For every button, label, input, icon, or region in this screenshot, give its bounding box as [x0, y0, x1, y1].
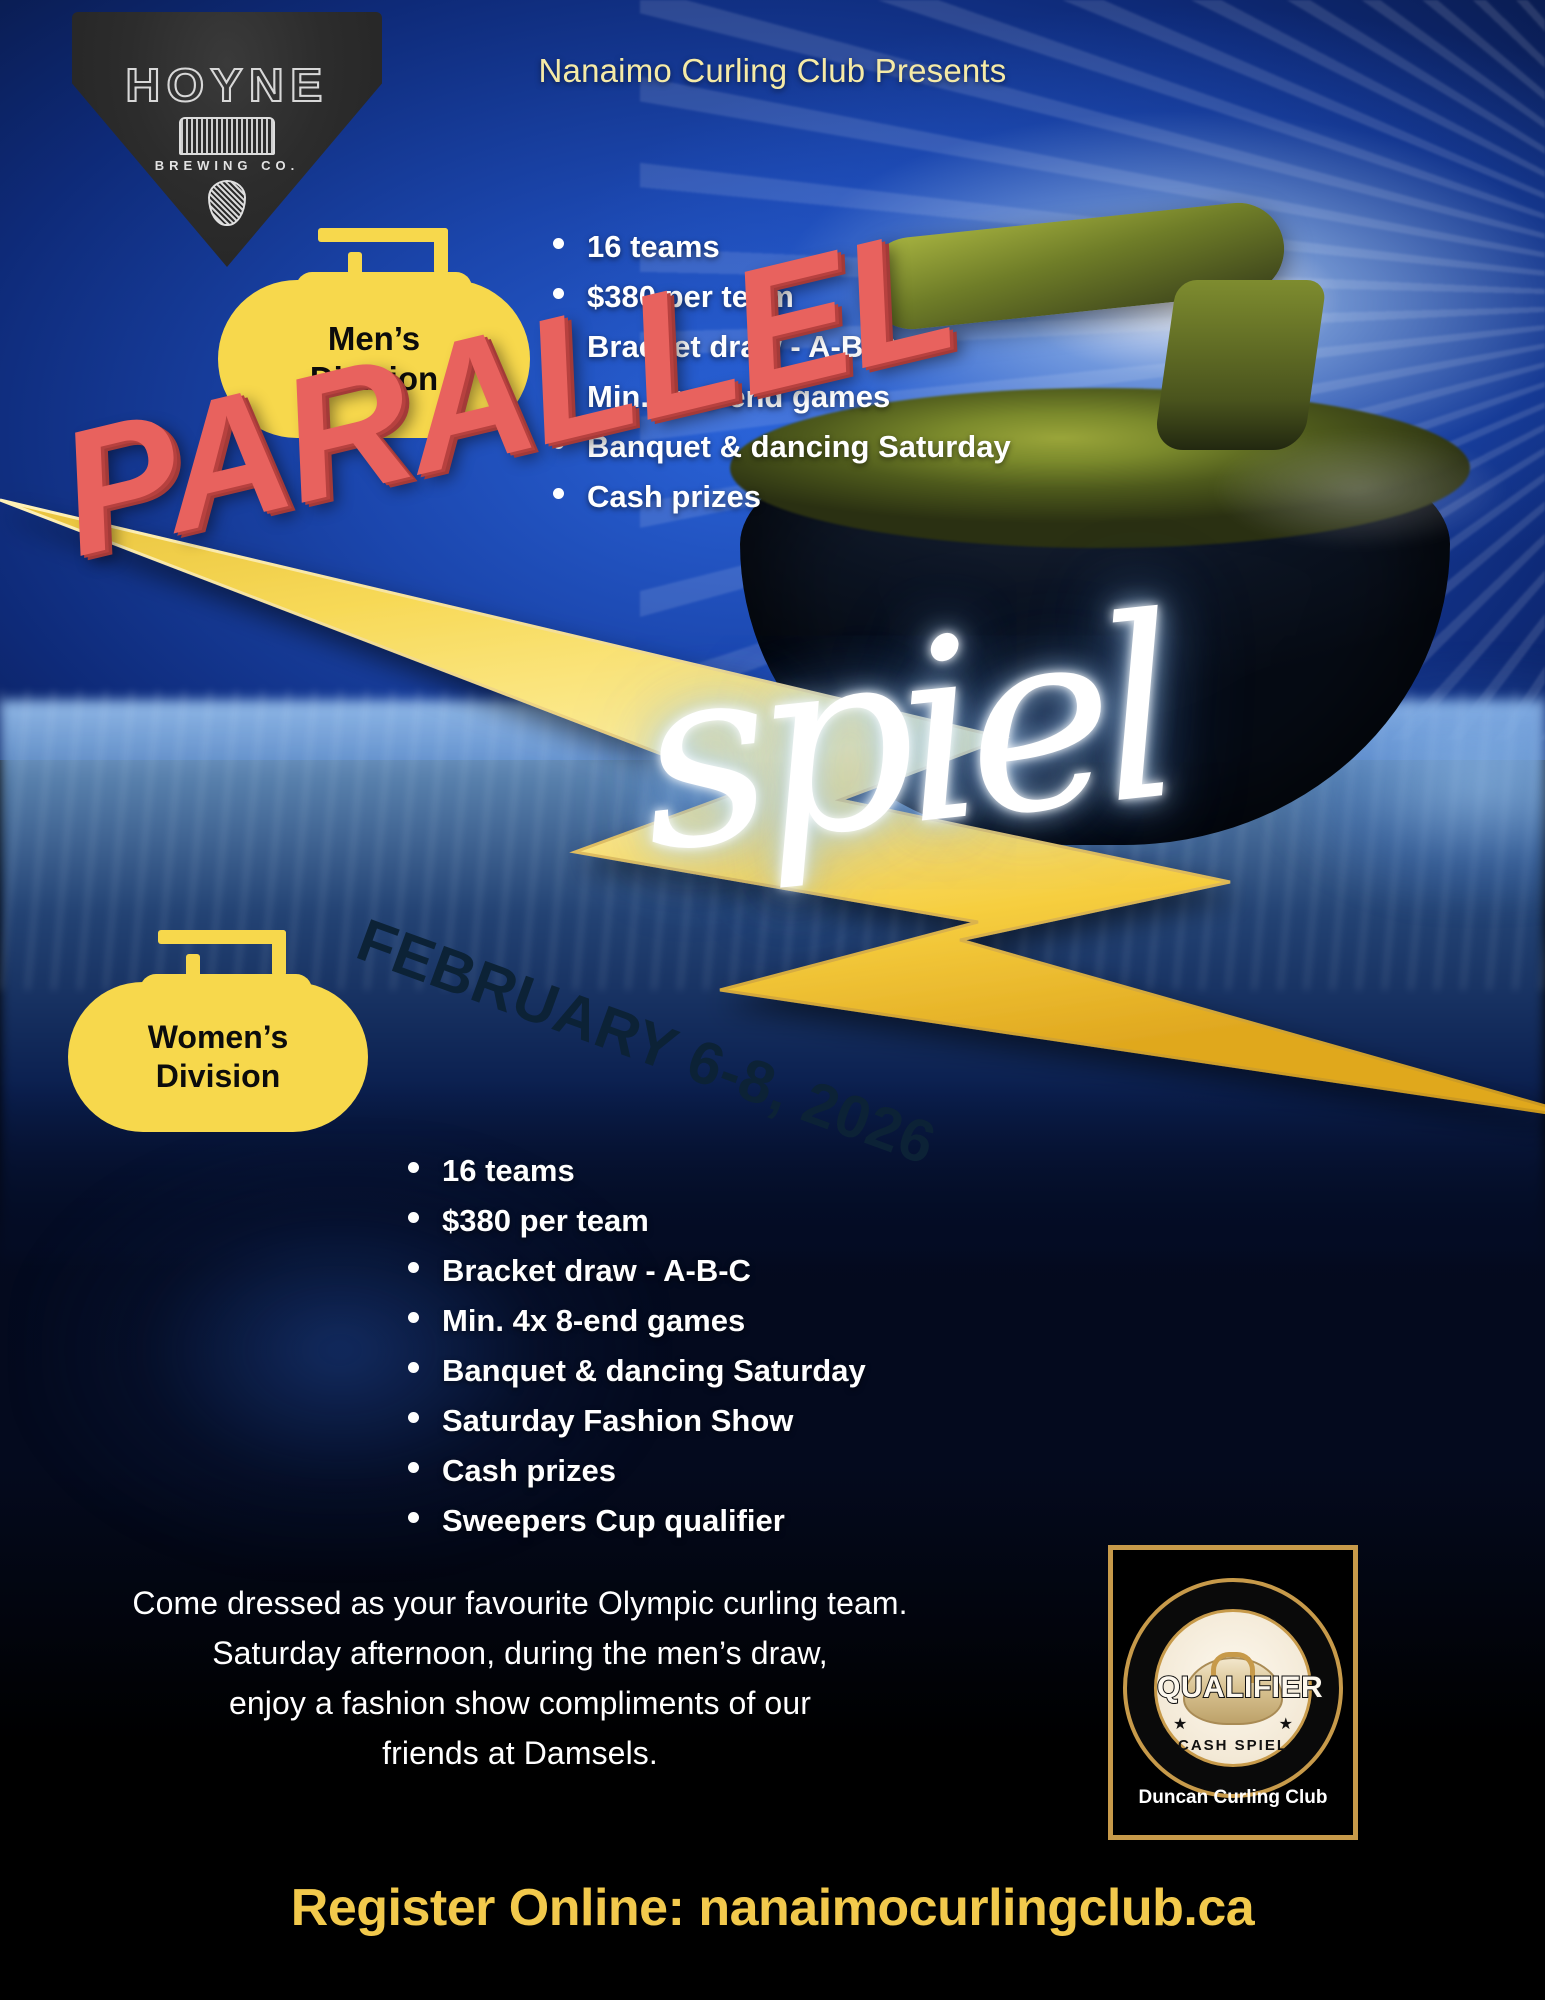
womens-feature-list: 16 teams $380 per team Bracket draw - A-… — [400, 1146, 866, 1546]
poster-canvas: HOYNE BREWING CO. Nanaimo Curling Club P… — [0, 0, 1545, 2000]
handle-bar-top — [158, 930, 286, 944]
event-blurb: Come dressed as your favourite Olympic c… — [100, 1578, 940, 1778]
hoyne-crest-icon — [179, 117, 275, 155]
blurb-line-1: Come dressed as your favourite Olympic c… — [100, 1578, 940, 1628]
sweepers-inner-circle: QUALIFIER ★ ★ CASH SPIEL — [1154, 1609, 1312, 1767]
sweepers-outer-circle: QUALIFIER ★ ★ CASH SPIEL — [1123, 1578, 1343, 1798]
stone-handle-post — [1153, 280, 1327, 450]
sweepers-badge-inner: Voyage Liquor Merchants SWEEPERS CUP OK … — [1121, 1558, 1345, 1827]
womens-badge-line2: Division — [156, 1057, 280, 1096]
list-item: 16 teams — [400, 1146, 866, 1196]
register-online-link[interactable]: Register Online: nanaimocurlingclub.ca — [0, 1878, 1545, 1938]
list-item: Min. 4x 8-end games — [400, 1296, 866, 1346]
list-item: Sweepers Cup qualifier — [400, 1496, 866, 1546]
blurb-line-3: enjoy a fashion show compliments of our — [100, 1678, 940, 1728]
list-item: Banquet & dancing Saturday — [400, 1346, 866, 1396]
handle-bar-top — [318, 228, 448, 242]
list-item: Cash prizes — [545, 472, 1011, 522]
title-spiel-script: spiel — [626, 563, 1180, 907]
list-item: Cash prizes — [400, 1446, 866, 1496]
womens-badge-line1: Women’s — [148, 1018, 288, 1057]
page-title: Nanaimo Curling Club Presents — [0, 52, 1545, 90]
qualifier-label: QUALIFIER — [1157, 1671, 1309, 1705]
handle-bar-right — [434, 228, 448, 274]
duncan-curling-club-label: Duncan Curling Club — [1123, 1787, 1343, 1809]
womens-badge-body: Women’s Division — [68, 982, 368, 1132]
sweepers-cup-badge: Voyage Liquor Merchants SWEEPERS CUP OK … — [1108, 1545, 1358, 1840]
hoyne-subtitle: BREWING CO. — [72, 158, 382, 173]
list-item: $380 per team — [400, 1196, 866, 1246]
list-item: Bracket draw - A-B-C — [400, 1246, 866, 1296]
star-icon-left: ★ — [1173, 1714, 1187, 1734]
star-icon-right: ★ — [1279, 1714, 1293, 1734]
womens-division-badge: Women’s Division — [68, 930, 368, 1132]
blurb-line-4: friends at Damsels. — [100, 1728, 940, 1778]
list-item: Saturday Fashion Show — [400, 1396, 866, 1446]
cash-spiel-label: CASH SPIEL — [1157, 1737, 1309, 1754]
handle-bar-right — [272, 930, 286, 976]
blurb-line-2: Saturday afternoon, during the men’s dra… — [100, 1628, 940, 1678]
